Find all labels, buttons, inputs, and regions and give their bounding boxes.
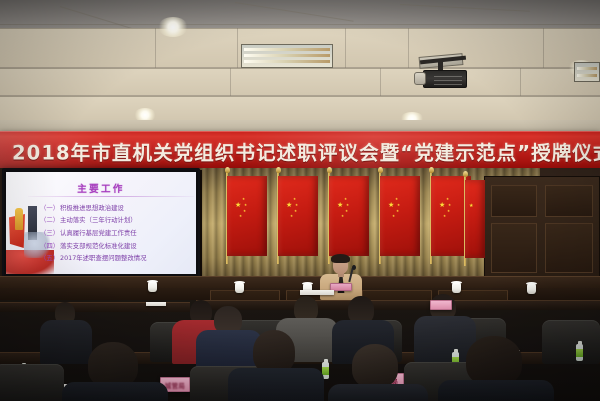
ceiling-tile-line <box>155 28 156 68</box>
document-papers <box>300 290 334 295</box>
teacup-icon <box>527 284 536 294</box>
teacup-icon <box>148 282 157 292</box>
placard-label: 城管局 <box>165 380 185 390</box>
table-placard <box>430 300 452 310</box>
slide-title: 主要工作 <box>6 181 196 195</box>
national-flag: ★ <box>464 176 488 266</box>
ceiling-band <box>0 68 600 96</box>
list-item-number: （一） <box>40 203 60 212</box>
teacup-icon <box>452 283 461 293</box>
water-bottle <box>576 344 583 361</box>
wood-door-panel <box>484 176 600 280</box>
banner-title: 2018年市直机关党组织书记述职评议会暨“党建示范点”授牌仪式 <box>12 136 592 165</box>
audience-table <box>196 300 600 310</box>
list-item-number: （四） <box>40 241 60 250</box>
list-item-label: 落实支部规范化标准化建设 <box>60 241 137 250</box>
projector-icon <box>423 70 467 88</box>
downlight-icon <box>158 17 188 37</box>
presentation-screen: 主要工作 （一） 积极推进思想政治建设 （二） 主动落实（三年行动计划） （三）… <box>2 168 200 278</box>
national-flag: ★ ★ ★ ★ ★ <box>277 172 321 264</box>
ceiling-band <box>0 96 600 122</box>
slide-divider <box>28 196 194 197</box>
ceiling-tile-line <box>380 68 381 96</box>
list-item-number: （五） <box>40 253 60 262</box>
list-item-label: 积极推进思想政治建设 <box>60 203 124 212</box>
ceiling-tile-line <box>408 28 409 68</box>
fluorescent-troffer-icon <box>241 44 333 68</box>
list-item: （四） 落实支部规范化标准化建设 <box>40 239 196 252</box>
national-flag: ★ ★ ★ ★ ★ <box>226 172 270 264</box>
slide-content: 主要工作 （一） 积极推进思想政治建设 （二） 主动落实（三年行动计划） （三）… <box>6 172 196 274</box>
list-item-number: （三） <box>40 228 60 237</box>
list-item-label: 主动落实（三年行动计划） <box>60 215 137 224</box>
wood-trim <box>200 170 202 278</box>
slide-bullet-list: （一） 积极推进思想政治建设 （二） 主动落实（三年行动计划） （三） 认真履行… <box>40 201 196 264</box>
event-banner: 2018年市直机关党组织书记述职评议会暨“党建示范点”授牌仪式 <box>0 131 600 170</box>
speaker-hair <box>331 254 350 263</box>
list-item: （二） 主动落实（三年行动计划） <box>40 214 196 227</box>
national-flag: ★ ★ ★ ★ ★ <box>379 172 423 264</box>
ceiling-tile-line <box>237 28 238 68</box>
ceiling-tile-line <box>520 68 521 96</box>
list-item: （一） 积极推进思想政治建设 <box>40 201 196 214</box>
fluorescent-troffer-icon <box>574 62 600 82</box>
projector-lens-icon <box>414 72 426 85</box>
audience-chair <box>0 364 64 401</box>
national-flag: ★ ★ ★ ★ ★ <box>328 172 372 264</box>
microphone-icon <box>352 265 356 270</box>
list-item: （三） 认真履行基层党建工作责任 <box>40 226 196 239</box>
teacup-icon <box>235 283 244 293</box>
list-item-label: 认真履行基层党建工作责任 <box>60 228 137 237</box>
ceiling <box>0 0 600 126</box>
conference-hall-photo: 2018年市直机关党组织书记述职评议会暨“党建示范点”授牌仪式 ★ ★ ★ ★ … <box>0 0 600 401</box>
ceiling-tile-line <box>543 28 544 68</box>
audience-chair <box>542 320 600 364</box>
document-papers <box>146 302 166 306</box>
ceiling-grid-line <box>0 24 600 25</box>
list-item: （五） 2017年述职查摆问题整改情况 <box>40 251 196 264</box>
ceiling-tile-line <box>345 28 346 68</box>
list-item-number: （二） <box>40 215 60 224</box>
list-item-label: 2017年述职查摆问题整改情况 <box>60 253 147 262</box>
ceiling-tile-line <box>230 68 231 96</box>
